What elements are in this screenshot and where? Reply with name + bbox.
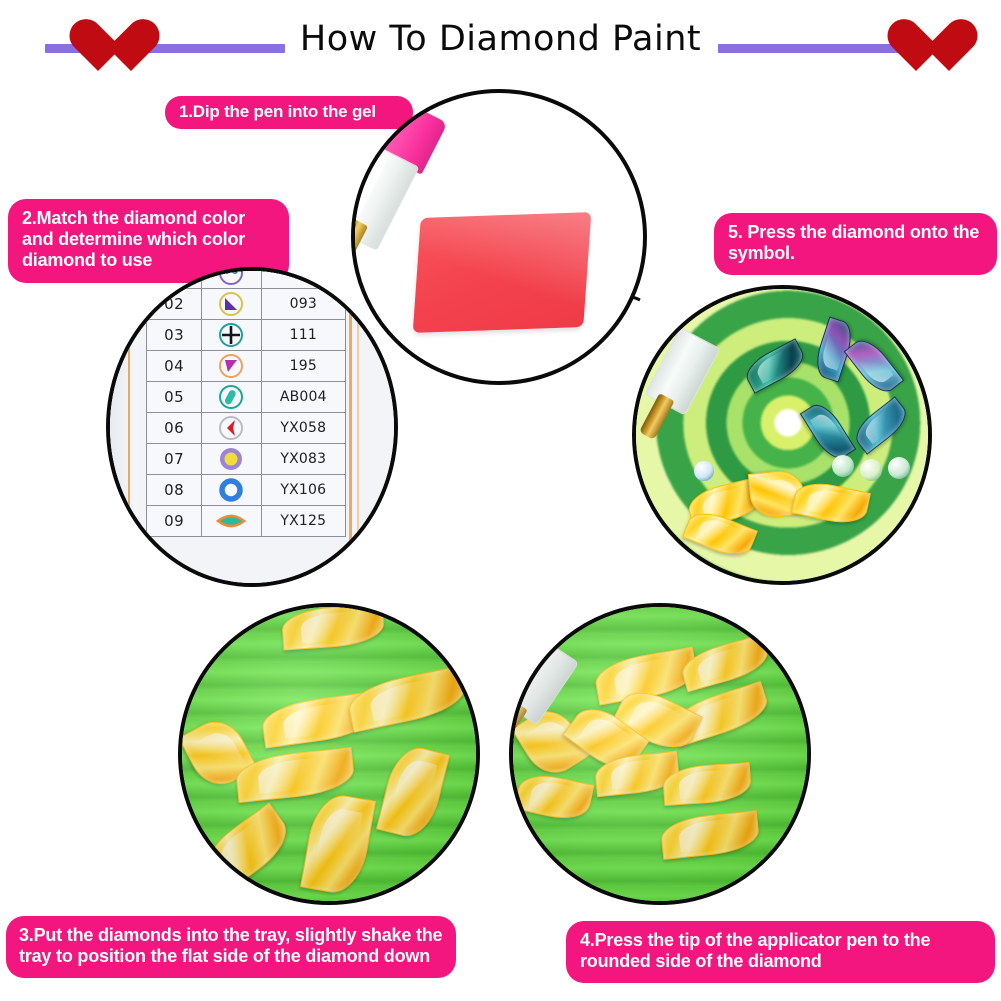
legend-row: 04195 [147, 351, 346, 382]
round-gem [694, 461, 714, 481]
legend-row-code: 195 [261, 351, 345, 382]
step-2-photo: 0102002093031110419505AB00406YX05807YX08… [106, 267, 398, 587]
canvas-orange-stripe [349, 271, 352, 583]
two-blue-dots-in-purple-circle-icon [202, 267, 261, 289]
legend-row-number: 04 [147, 351, 202, 382]
legend-row-code: YX058 [261, 413, 345, 444]
yellow-diamond [281, 603, 386, 650]
legend-row-code: 111 [261, 320, 345, 351]
legend-row-number: 05 [147, 382, 202, 413]
legend-chart-scene: 0102002093031110419505AB00406YX05807YX08… [110, 271, 394, 583]
yellow-diamond [662, 762, 752, 806]
teal-diagonal-bar-in-teal-circle-icon [202, 382, 261, 413]
step-5-label: 5. Press the diamond onto the symbol. [714, 213, 997, 275]
round-gem [860, 459, 882, 481]
legend-row-number: 06 [147, 413, 202, 444]
yellow-diamond [260, 691, 377, 748]
magenta-triangle-in-orange-circle-icon [202, 351, 261, 382]
page-title: How To Diamond Paint [0, 19, 1001, 59]
yellow-diamond [234, 747, 356, 803]
legend-row: 09YX125 [147, 506, 346, 537]
yellow-diamond [345, 665, 470, 733]
yellow-diamond [300, 791, 376, 898]
legend-row: 01020 [147, 267, 346, 289]
mandala-canvas-scene [636, 289, 928, 581]
legend-row-code: 093 [261, 289, 345, 320]
yellow-diamond [511, 701, 591, 784]
yellow-diamond [668, 681, 773, 747]
yellow-diamond [592, 646, 700, 705]
legend-row-number: 07 [147, 444, 202, 475]
yellow-diamond [178, 712, 257, 795]
yellow-diamond [611, 682, 703, 758]
step-4-label: 4.Press the tip of the applicator pen to… [566, 921, 995, 983]
legend-row-code: AB004 [261, 382, 345, 413]
step-3-label: 3.Put the diamonds into the tray, slight… [6, 916, 456, 978]
legend-row: 06YX058 [147, 413, 346, 444]
canvas-orange-stripe-2 [357, 271, 359, 583]
yellow-diamond [678, 634, 773, 693]
infographic-page: How To Diamond Paint 1.Dip the pen into … [0, 0, 1001, 1001]
pink-gel-pad [413, 212, 592, 333]
page-header: How To Diamond Paint [0, 0, 1001, 78]
yellow-diamond [659, 810, 761, 860]
yellow-diamond [195, 803, 298, 896]
yellow-dot-in-purple-ring-icon [202, 444, 261, 475]
legend-row-number: 01 [147, 267, 202, 289]
yellow-diamond [514, 770, 595, 825]
legend-row: 02093 [147, 289, 346, 320]
round-gem [832, 455, 854, 477]
purple-right-triangle-in-yellow-circle-icon [202, 289, 261, 320]
legend-row: 05AB004 [147, 382, 346, 413]
canvas-edge [110, 271, 138, 583]
legend-row-number: 02 [147, 289, 202, 320]
pen-pickup-scene [513, 607, 807, 901]
teal-leaf-in-orange-outline-icon [202, 506, 261, 537]
pen-metal-tip [509, 701, 528, 747]
pen-barrel [509, 637, 579, 726]
yellow-diamond [593, 751, 681, 798]
legend-row-code: YX083 [261, 444, 345, 475]
step-3-photo [178, 603, 480, 905]
legend-row: 07YX083 [147, 444, 346, 475]
yellow-diamond [563, 698, 650, 779]
legend-row: 08YX106 [147, 475, 346, 506]
step-4-photo [509, 603, 811, 905]
legend-table: 0102002093031110419505AB00406YX05807YX08… [146, 267, 346, 537]
legend-row-number: 09 [147, 506, 202, 537]
legend-row-code: YX106 [261, 475, 345, 506]
round-gem [888, 457, 910, 479]
yellow-diamond [376, 742, 450, 842]
legend-row: 03111 [147, 320, 346, 351]
step-5-photo [632, 285, 932, 585]
blue-open-ring-icon [202, 475, 261, 506]
legend-row-code: 020 [261, 267, 345, 289]
pen-and-gel-scene [355, 93, 643, 381]
legend-row-number: 08 [147, 475, 202, 506]
diamond-tray-scene [182, 607, 476, 901]
black-plus-in-teal-circle-icon [202, 320, 261, 351]
legend-row-code: YX125 [261, 506, 345, 537]
red-left-chevron-in-grey-circle-icon [202, 413, 261, 444]
step-1-photo [351, 89, 647, 385]
legend-row-number: 03 [147, 320, 202, 351]
